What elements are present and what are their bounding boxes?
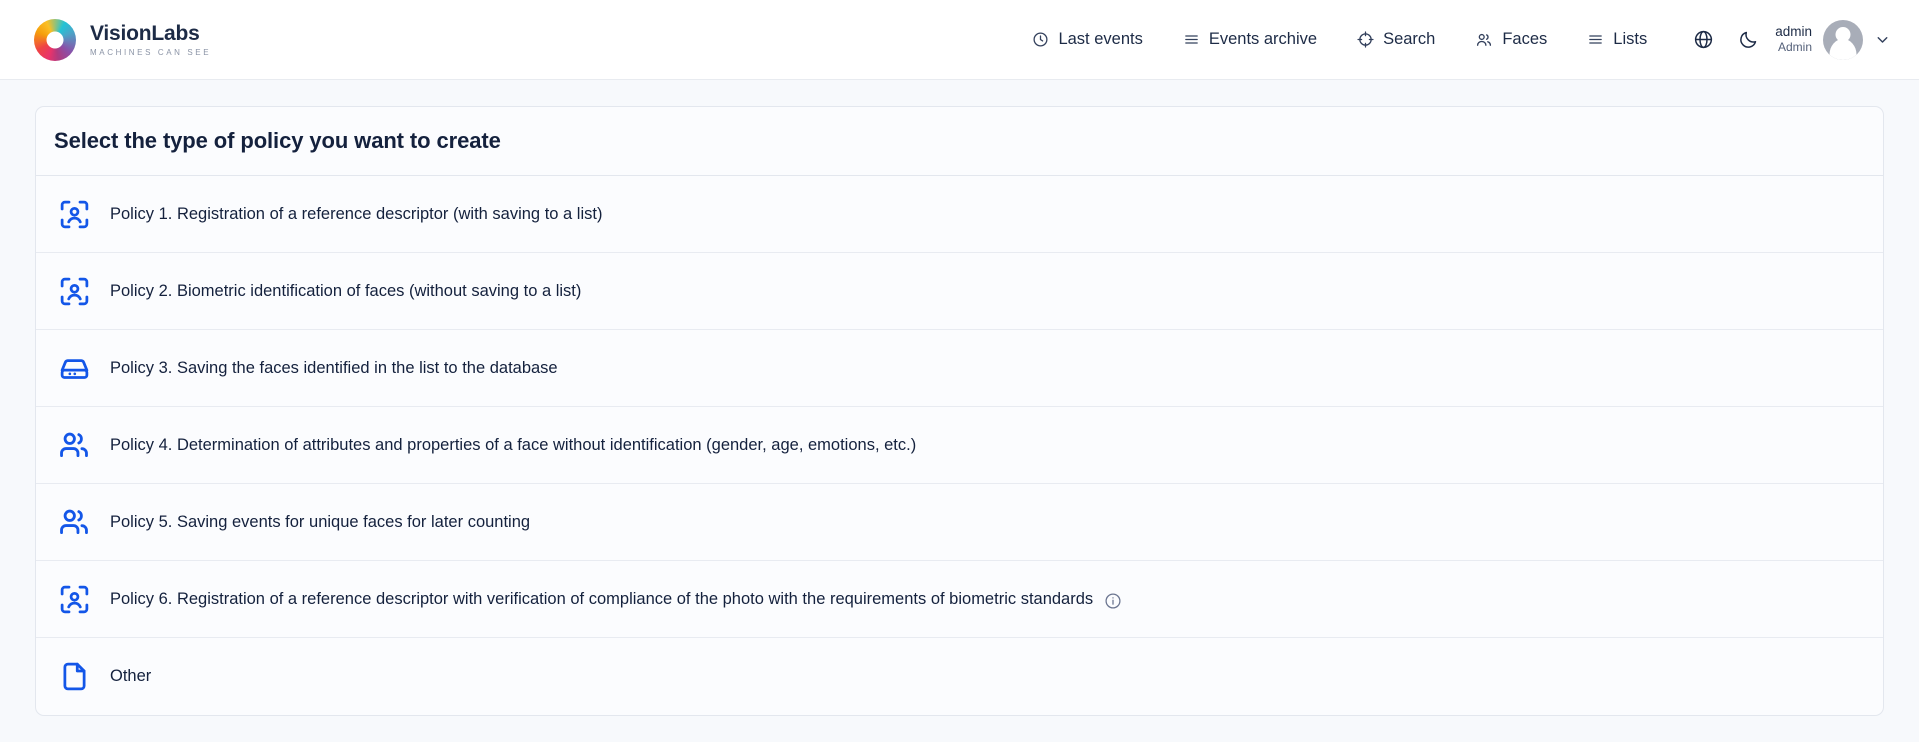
clock-icon <box>1032 31 1049 48</box>
header-tools <box>1693 29 1759 50</box>
face-scan-icon <box>54 271 94 311</box>
policy-option-5[interactable]: Policy 5. Saving events for unique faces… <box>36 484 1883 561</box>
brand-name: VisionLabs <box>90 23 211 45</box>
policy-option-3[interactable]: Policy 3. Saving the faces identified in… <box>36 330 1883 407</box>
visionlabs-ring-logo-icon <box>34 19 76 61</box>
policy-option-4[interactable]: Policy 4. Determination of attributes an… <box>36 407 1883 484</box>
nav-events-archive[interactable]: Events archive <box>1183 30 1317 49</box>
policy-label: Policy 1. Registration of a reference de… <box>110 205 602 224</box>
user-menu[interactable]: admin Admin <box>1775 20 1891 60</box>
policy-option-2[interactable]: Policy 2. Biometric identification of fa… <box>36 253 1883 330</box>
nav-search[interactable]: Search <box>1357 30 1435 49</box>
face-scan-icon <box>54 194 94 234</box>
people-icon <box>54 502 94 542</box>
user-login: admin <box>1775 24 1812 41</box>
moon-icon[interactable] <box>1738 29 1759 50</box>
policy-label-wrap: Policy 4. Determination of attributes an… <box>110 436 916 455</box>
user-names: admin Admin <box>1775 24 1812 56</box>
policy-label-wrap: Policy 1. Registration of a reference de… <box>110 205 602 224</box>
list-icon <box>1183 31 1200 48</box>
list-icon <box>1587 31 1604 48</box>
nav-label: Lists <box>1613 30 1647 49</box>
policy-label-wrap: Policy 3. Saving the faces identified in… <box>110 359 558 378</box>
policy-label-wrap: Policy 6. Registration of a reference de… <box>110 590 1122 609</box>
nav-last-events[interactable]: Last events <box>1032 30 1142 49</box>
page-content: Select the type of policy you want to cr… <box>0 80 1919 716</box>
nav-label: Events archive <box>1209 30 1317 49</box>
brand-logo-block[interactable]: VisionLabs MACHINES CAN SEE <box>34 19 211 61</box>
nav-label: Faces <box>1502 30 1547 49</box>
nav-faces[interactable]: Faces <box>1475 30 1547 49</box>
globe-icon[interactable] <box>1693 29 1714 50</box>
policy-label-wrap: Policy 5. Saving events for unique faces… <box>110 513 530 532</box>
card-header: Select the type of policy you want to cr… <box>36 107 1883 176</box>
policy-label: Policy 2. Biometric identification of fa… <box>110 282 581 301</box>
policy-label-wrap: Other <box>110 667 151 686</box>
chevron-down-icon[interactable] <box>1874 31 1891 48</box>
document-icon <box>54 657 94 697</box>
policy-label: Policy 3. Saving the faces identified in… <box>110 359 558 378</box>
brand-tagline: MACHINES CAN SEE <box>90 48 211 57</box>
database-icon <box>54 348 94 388</box>
people-icon <box>54 425 94 465</box>
policy-label: Policy 6. Registration of a reference de… <box>110 590 1093 609</box>
nav-lists[interactable]: Lists <box>1587 30 1647 49</box>
info-circle-icon[interactable] <box>1104 592 1122 610</box>
face-scan-icon <box>54 579 94 619</box>
user-role: Admin <box>1775 40 1812 55</box>
brand-text: VisionLabs MACHINES CAN SEE <box>90 23 211 57</box>
policy-label-wrap: Policy 2. Biometric identification of fa… <box>110 282 581 301</box>
policy-option-1[interactable]: Policy 1. Registration of a reference de… <box>36 176 1883 253</box>
people-icon <box>1475 31 1493 49</box>
main-navigation: Last events Events archive Search <box>1032 30 1647 49</box>
user-avatar-icon <box>1823 20 1863 60</box>
policy-option-other[interactable]: Other <box>36 638 1883 715</box>
policy-label: Other <box>110 667 151 686</box>
nav-label: Search <box>1383 30 1435 49</box>
app-header: VisionLabs MACHINES CAN SEE Last events … <box>0 0 1919 80</box>
policy-label: Policy 4. Determination of attributes an… <box>110 436 916 455</box>
target-icon <box>1357 31 1374 48</box>
nav-label: Last events <box>1058 30 1142 49</box>
policy-type-card: Select the type of policy you want to cr… <box>35 106 1884 716</box>
policy-label: Policy 5. Saving events for unique faces… <box>110 513 530 532</box>
page-title: Select the type of policy you want to cr… <box>54 128 1863 154</box>
policy-option-6[interactable]: Policy 6. Registration of a reference de… <box>36 561 1883 638</box>
